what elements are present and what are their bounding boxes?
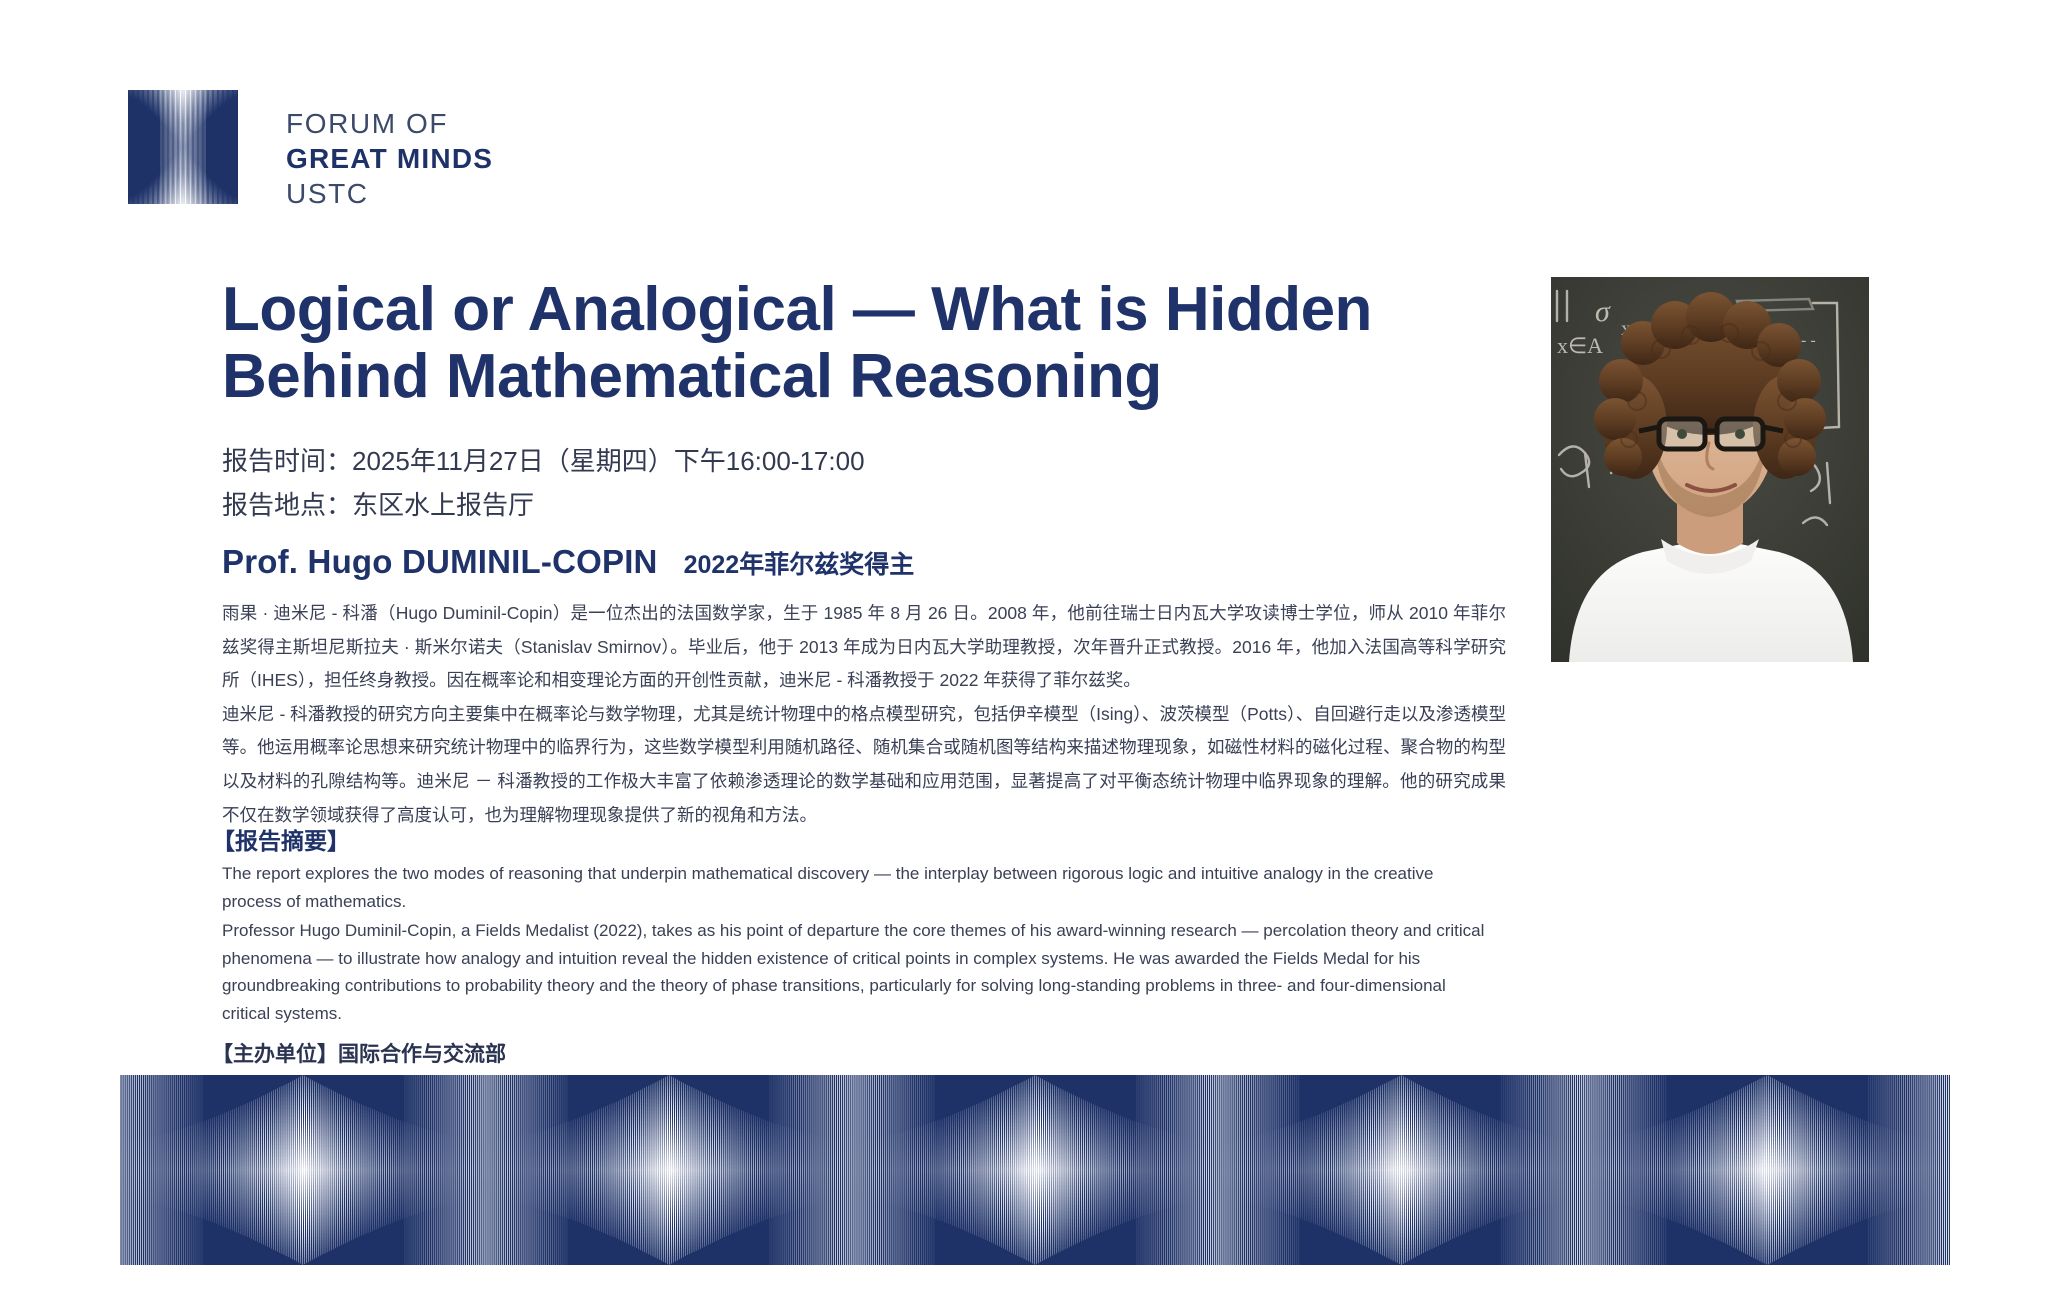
- svg-text:σ: σ: [1595, 295, 1611, 328]
- brand-line-3: USTC: [286, 180, 493, 208]
- abstract-body: The report explores the two modes of rea…: [222, 860, 1490, 1029]
- abstract-paragraph-1: The report explores the two modes of rea…: [222, 860, 1490, 915]
- bio-paragraph-2: 迪米尼 - 科潘教授的研究方向主要集中在概率论与数学物理，尤其是统计物理中的格点…: [222, 698, 1506, 832]
- brand-header: FORUM OF GREAT MINDS USTC: [128, 90, 493, 208]
- ray-pattern-band-icon: [120, 1075, 1950, 1265]
- event-meta: 报告时间：2025年11月27日（星期四）下午16:00-17:00 报告地点：…: [222, 442, 1422, 531]
- svg-text:x∈A: x∈A: [1557, 333, 1603, 358]
- forum-of-great-minds-mark-icon: [128, 90, 238, 204]
- speaker-line: Prof. Hugo DUMINIL-COPIN 2022年菲尔兹奖得主: [222, 543, 914, 581]
- brand-line-1: FORUM OF: [286, 110, 493, 138]
- speaker-name: Prof. Hugo DUMINIL-COPIN: [222, 543, 658, 581]
- page-title: Logical or Analogical — What is Hidden B…: [222, 277, 1512, 411]
- event-time: 报告时间：2025年11月27日（星期四）下午16:00-17:00: [222, 442, 1422, 480]
- bio-paragraph-1: 雨果 · 迪米尼 - 科潘（Hugo Duminil-Copin）是一位杰出的法…: [222, 597, 1506, 698]
- speaker-bio: 雨果 · 迪米尼 - 科潘（Hugo Duminil-Copin）是一位杰出的法…: [222, 597, 1506, 832]
- brand-line-2: GREAT MINDS: [286, 145, 493, 173]
- event-venue: 报告地点：东区水上报告厅: [222, 486, 1422, 524]
- speaker-portrait: σ x x∈A - - - - - p: [1551, 277, 1869, 662]
- abstract-paragraph-2: Professor Hugo Duminil-Copin, a Fields M…: [222, 917, 1490, 1027]
- poster-canvas: FORUM OF GREAT MINDS USTC Logical or Ana…: [0, 0, 2048, 1311]
- abstract-heading: 【报告摘要】: [212, 822, 350, 856]
- speaker-award: 2022年菲尔兹奖得主: [684, 545, 915, 581]
- organizer-line: 【主办单位】国际合作与交流部: [212, 1038, 506, 1068]
- brand-wordmark: FORUM OF GREAT MINDS USTC: [286, 90, 493, 208]
